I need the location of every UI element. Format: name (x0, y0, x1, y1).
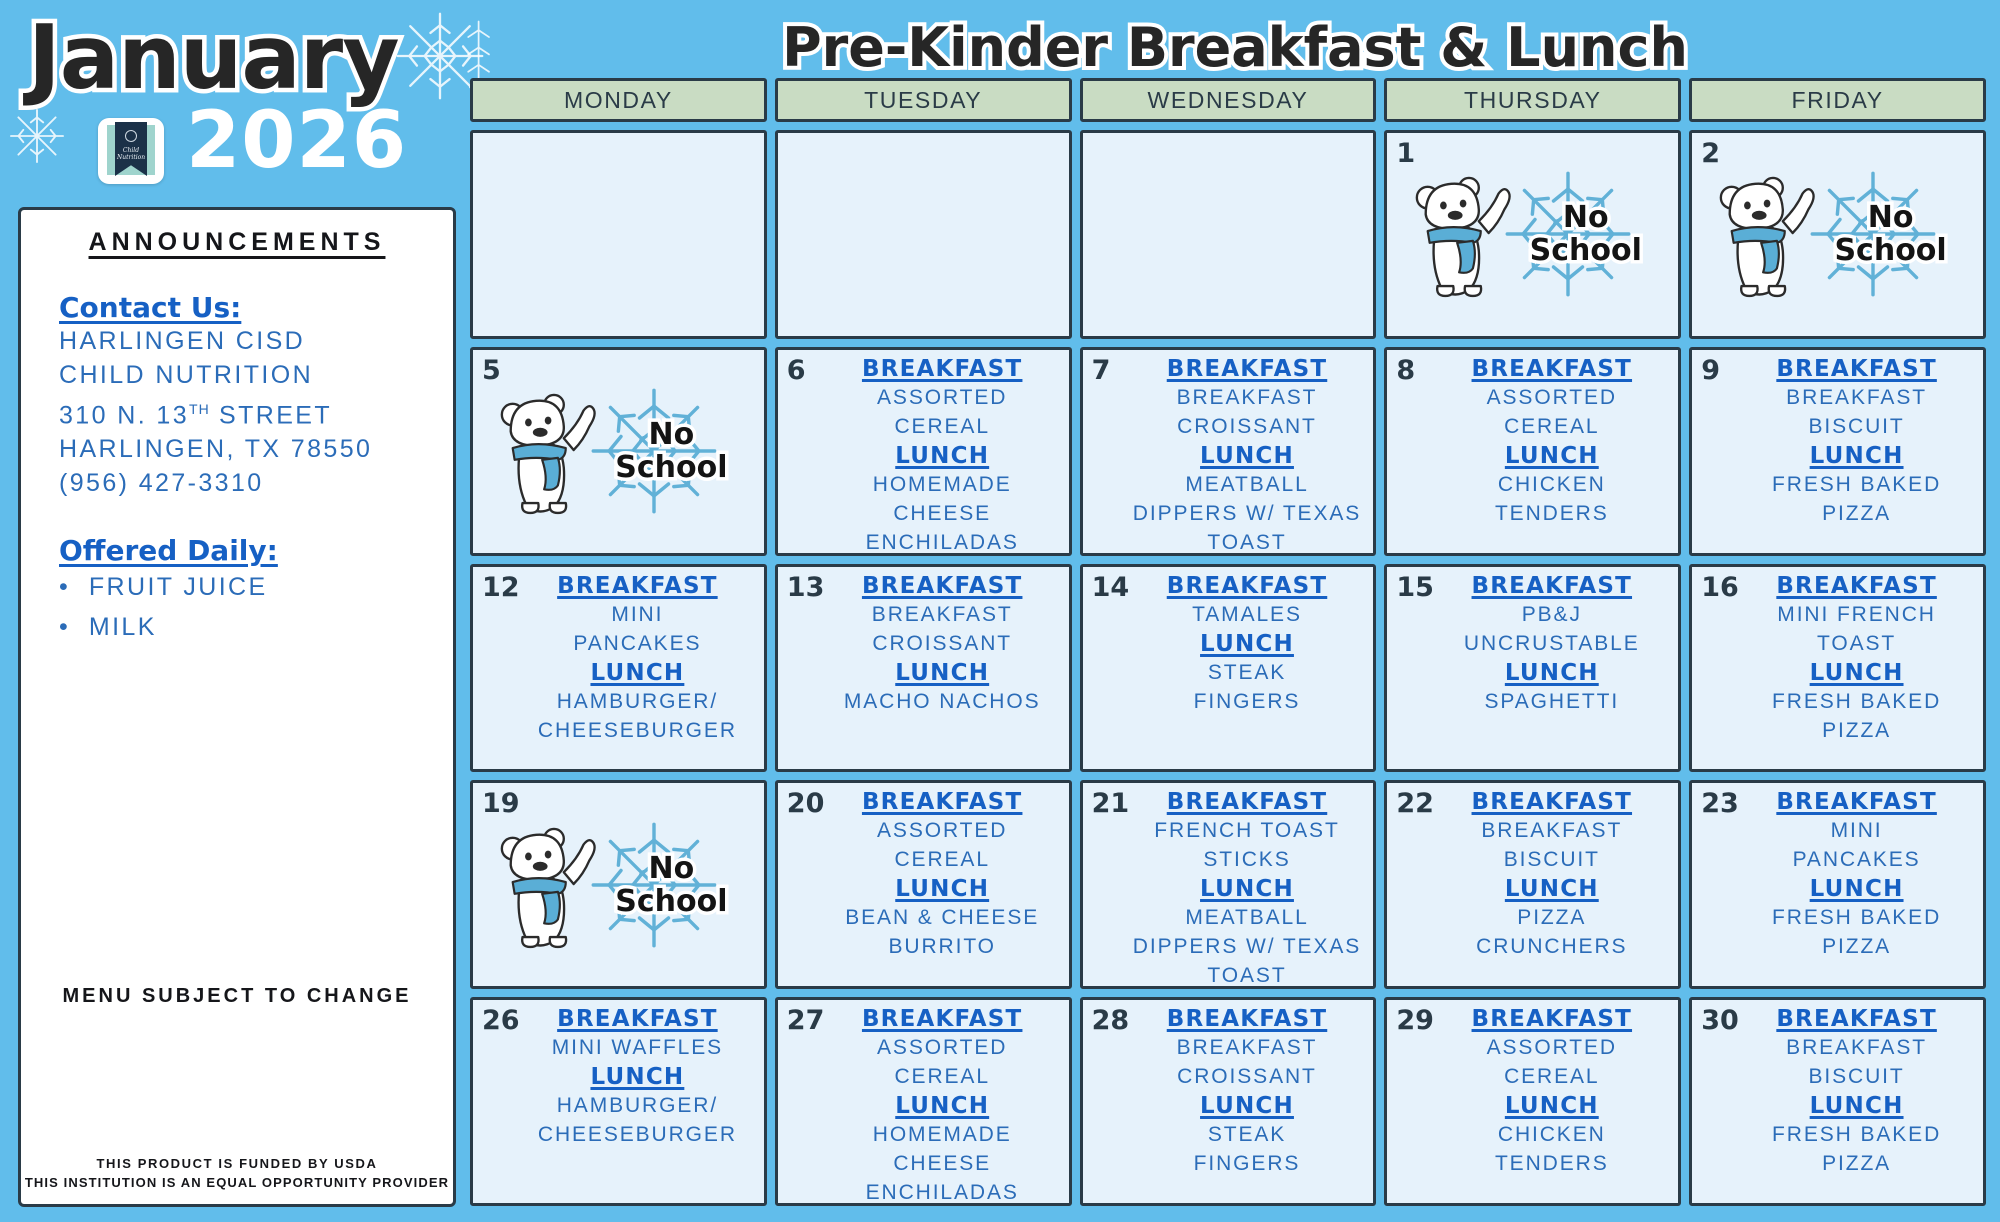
day-of-week-header-friday: FRIDAY (1689, 78, 1986, 122)
day-number: 5 (482, 355, 501, 386)
lunch-item: CHEESEBURGER (517, 716, 758, 745)
logo-script-text: ChildNutrition (117, 147, 145, 161)
lunch-item: SPAGHETTI (1431, 687, 1672, 716)
breakfast-item: FRENCH TOAST (1127, 816, 1368, 845)
lunch-heading: LUNCH (1431, 660, 1672, 687)
breakfast-item: PB&J (1431, 600, 1672, 629)
breakfast-heading: BREAKFAST (1431, 356, 1672, 383)
calendar-cell-empty (470, 130, 767, 339)
calendar-cell-day-27: 27BREAKFASTASSORTEDCEREALLUNCHHOMEMADE C… (775, 997, 1072, 1206)
breakfast-heading: BREAKFAST (517, 573, 758, 600)
calendar-cell-day-12: 12BREAKFASTMINIPANCAKESLUNCHHAMBURGER/CH… (470, 564, 767, 773)
lunch-item: PIZZA (1736, 499, 1977, 528)
breakfast-item: BISCUIT (1736, 412, 1977, 441)
lunch-item: PIZZA (1431, 903, 1672, 932)
breakfast-item: UNCRUSTABLE (1431, 629, 1672, 658)
breakfast-item: ASSORTED (1431, 1033, 1672, 1062)
day-number: 2 (1701, 138, 1720, 169)
lunch-heading: LUNCH (1127, 631, 1368, 658)
breakfast-item: TOAST (1736, 629, 1977, 658)
breakfast-item: CROISSANT (1127, 412, 1368, 441)
breakfast-item: BREAKFAST (822, 600, 1063, 629)
lunch-item: HAMBURGER/ (517, 687, 758, 716)
breakfast-item: CEREAL (822, 845, 1063, 874)
lunch-item: HAMBURGER/ (517, 1091, 758, 1120)
day-number: 12 (482, 572, 520, 603)
day-number: 23 (1701, 788, 1739, 819)
usda-funding-note: THIS PRODUCT IS FUNDED BY USDA THIS INST… (21, 1156, 453, 1190)
lunch-heading: LUNCH (1431, 876, 1672, 903)
breakfast-heading: BREAKFAST (822, 789, 1063, 816)
calendar-cell-day-1: 1 NoSchool (1384, 130, 1681, 339)
day-number: 22 (1396, 788, 1434, 819)
day-of-week-header-tuesday: TUESDAY (775, 78, 1072, 122)
breakfast-item: ASSORTED (822, 383, 1063, 412)
lunch-item: HOMEMADE CHEESE (822, 470, 1063, 528)
breakfast-heading: BREAKFAST (1127, 789, 1368, 816)
lunch-item: TOAST (1127, 528, 1368, 556)
breakfast-item: BREAKFAST (1127, 383, 1368, 412)
offered-daily-item: • MILK (59, 607, 415, 647)
breakfast-item: TAMALES (1127, 600, 1368, 629)
lunch-item: PIZZA (1736, 932, 1977, 961)
lunch-item: FRESH BAKED (1736, 470, 1977, 499)
lunch-item: BURRITO (822, 932, 1063, 961)
calendar-cell-day-7: 7BREAKFASTBREAKFASTCROISSANTLUNCHMEATBAL… (1080, 347, 1377, 556)
breakfast-heading: BREAKFAST (1736, 573, 1977, 600)
contact-phone[interactable]: (956) 427-3310 (59, 466, 415, 500)
lunch-heading: LUNCH (822, 660, 1063, 687)
contact-line: HARLINGEN, TX 78550 (59, 432, 415, 466)
calendar-cell-day-15: 15BREAKFASTPB&JUNCRUSTABLELUNCHSPAGHETTI (1384, 564, 1681, 773)
contact-line-street: 310 N. 13TH STREET (59, 392, 415, 432)
no-school-graphic: NoSchool (1692, 133, 1983, 336)
usda-line-2: THIS INSTITUTION IS AN EQUAL OPPORTUNITY… (21, 1175, 453, 1190)
breakfast-heading: BREAKFAST (1736, 789, 1977, 816)
breakfast-heading: BREAKFAST (1736, 1006, 1977, 1033)
lunch-item: DIPPERS W/ TEXAS (1127, 499, 1368, 528)
lunch-item: TOAST (1127, 961, 1368, 989)
breakfast-heading: BREAKFAST (822, 1006, 1063, 1033)
breakfast-heading: BREAKFAST (1431, 1006, 1672, 1033)
day-number: 6 (787, 355, 806, 386)
day-number: 29 (1396, 1005, 1434, 1036)
child-nutrition-logo: ChildNutrition (98, 118, 164, 184)
lunch-heading: LUNCH (1127, 876, 1368, 903)
lunch-item: PIZZA (1736, 716, 1977, 745)
contact-us-heading: Contact Us: (59, 291, 415, 324)
breakfast-item: PANCAKES (1736, 845, 1977, 874)
lunch-item: HOMEMADE CHEESE (822, 1120, 1063, 1178)
lunch-heading: LUNCH (517, 660, 758, 687)
breakfast-item: MINI (517, 600, 758, 629)
breakfast-item: BISCUIT (1736, 1062, 1977, 1091)
breakfast-item: CROISSANT (1127, 1062, 1368, 1091)
breakfast-item: CEREAL (1431, 412, 1672, 441)
breakfast-item: BISCUIT (1431, 845, 1672, 874)
breakfast-item: PANCAKES (517, 629, 758, 658)
menu-content: BREAKFASTBREAKFASTCROISSANTLUNCHMEATBALL… (1083, 350, 1374, 556)
calendar-cell-day-2: 2 NoSchool (1689, 130, 1986, 339)
day-number: 30 (1701, 1005, 1739, 1036)
lunch-item: MACHO NACHOS (822, 687, 1063, 716)
lunch-heading: LUNCH (1736, 1093, 1977, 1120)
lunch-item: CRUNCHERS (1431, 932, 1672, 961)
lunch-item: STEAK (1127, 1120, 1368, 1149)
lunch-heading: LUNCH (822, 1093, 1063, 1120)
lunch-heading: LUNCH (517, 1064, 758, 1091)
day-of-week-header-monday: MONDAY (470, 78, 767, 122)
menu-subject-to-change-note: MENU SUBJECT TO CHANGE (21, 985, 453, 1008)
day-number: 19 (482, 788, 520, 819)
calendar-cell-day-28: 28BREAKFASTBREAKFASTCROISSANTLUNCHSTEAKF… (1080, 997, 1377, 1206)
lunch-item: FINGERS (1127, 1149, 1368, 1178)
breakfast-item: MINI FRENCH (1736, 600, 1977, 629)
menu-content: BREAKFASTASSORTEDCEREALLUNCHCHICKENTENDE… (1387, 350, 1678, 532)
lunch-heading: LUNCH (1127, 1093, 1368, 1120)
day-number: 7 (1092, 355, 1111, 386)
calendar-cell-day-29: 29BREAKFASTASSORTEDCEREALLUNCHCHICKENTEN… (1384, 997, 1681, 1206)
lunch-heading: LUNCH (1431, 443, 1672, 470)
breakfast-heading: BREAKFAST (1431, 573, 1672, 600)
breakfast-heading: BREAKFAST (1431, 789, 1672, 816)
calendar-cell-day-20: 20BREAKFASTASSORTEDCEREALLUNCHBEAN & CHE… (775, 780, 1072, 989)
lunch-heading: LUNCH (1736, 876, 1977, 903)
day-number: 1 (1396, 138, 1415, 169)
no-school-label: NoSchool (1530, 201, 1642, 267)
menu-content: BREAKFASTBREAKFASTBISCUITLUNCHFRESH BAKE… (1692, 350, 1983, 532)
breakfast-item: STICKS (1127, 845, 1368, 874)
lunch-item: STEAK (1127, 658, 1368, 687)
day-number: 26 (482, 1005, 520, 1036)
breakfast-item: ASSORTED (1431, 383, 1672, 412)
no-school-graphic: NoSchool (473, 350, 764, 553)
lunch-item: FRESH BAKED (1736, 1120, 1977, 1149)
day-number: 8 (1396, 355, 1415, 386)
calendar-cell-empty (775, 130, 1072, 339)
day-number: 15 (1396, 572, 1434, 603)
calendar-cell-day-19: 19 NoSchool (470, 780, 767, 989)
calendar-title: Pre-Kinder Breakfast & Lunch (470, 16, 2000, 79)
lunch-item: BEAN & CHEESE (822, 903, 1063, 932)
left-info-panel: January ChildNutrition 2026 ANNOUNCEMENT… (0, 0, 470, 1222)
lunch-item: MEATBALL (1127, 470, 1368, 499)
breakfast-heading: BREAKFAST (517, 1006, 758, 1033)
breakfast-item: CEREAL (822, 412, 1063, 441)
calendar-cell-day-26: 26BREAKFASTMINI WAFFLESLUNCHHAMBURGER/CH… (470, 997, 767, 1206)
breakfast-item: BREAKFAST (1736, 1033, 1977, 1062)
menu-content: BREAKFASTASSORTEDCEREALLUNCHHOMEMADE CHE… (778, 350, 1069, 556)
contact-line: CHILD NUTRITION (59, 358, 415, 392)
offered-daily-item: • FRUIT JUICE (59, 567, 415, 607)
month-title: January (28, 6, 399, 109)
calendar-cell-day-21: 21BREAKFASTFRENCH TOASTSTICKSLUNCHMEATBA… (1080, 780, 1377, 989)
breakfast-item: CROISSANT (822, 629, 1063, 658)
breakfast-item: CEREAL (1431, 1062, 1672, 1091)
day-of-week-header-wednesday: WEDNESDAY (1080, 78, 1377, 122)
breakfast-heading: BREAKFAST (1127, 573, 1368, 600)
day-number: 14 (1092, 572, 1130, 603)
day-number: 13 (787, 572, 825, 603)
lunch-item: TENDERS (1431, 499, 1672, 528)
breakfast-item: CEREAL (822, 1062, 1063, 1091)
calendar-cell-day-16: 16BREAKFASTMINI FRENCHTOASTLUNCHFRESH BA… (1689, 564, 1986, 773)
lunch-heading: LUNCH (822, 443, 1063, 470)
announcements-card: ANNOUNCEMENTS Contact Us: HARLINGEN CISD… (18, 207, 456, 1207)
lunch-item: TENDERS (1431, 1149, 1672, 1178)
breakfast-heading: BREAKFAST (822, 573, 1063, 600)
calendar-cell-day-22: 22BREAKFASTBREAKFASTBISCUITLUNCHPIZZACRU… (1384, 780, 1681, 989)
breakfast-item: MINI WAFFLES (517, 1033, 758, 1062)
year-title: 2026 (186, 96, 407, 186)
day-number: 27 (787, 1005, 825, 1036)
breakfast-item: ASSORTED (822, 1033, 1063, 1062)
contact-line: HARLINGEN CISD (59, 324, 415, 358)
calendar-cell-day-23: 23BREAKFASTMINIPANCAKESLUNCHFRESH BAKEDP… (1689, 780, 1986, 989)
no-school-label: NoSchool (615, 852, 727, 918)
lunch-heading: LUNCH (1431, 1093, 1672, 1120)
day-number: 28 (1092, 1005, 1130, 1036)
lunch-heading: LUNCH (1736, 660, 1977, 687)
lunch-item: DIPPERS W/ TEXAS (1127, 932, 1368, 961)
lunch-heading: LUNCH (1127, 443, 1368, 470)
announcements-heading: ANNOUNCEMENTS (21, 228, 453, 257)
lunch-item: FINGERS (1127, 687, 1368, 716)
lunch-item: ENCHILADAS (822, 528, 1063, 556)
lunch-item: FRESH BAKED (1736, 903, 1977, 932)
no-school-label: NoSchool (1834, 201, 1946, 267)
calendar-cell-day-5: 5 NoSchool (470, 347, 767, 556)
lunch-item: CHEESEBURGER (517, 1120, 758, 1149)
breakfast-heading: BREAKFAST (1127, 1006, 1368, 1033)
calendar-cell-day-8: 8BREAKFASTASSORTEDCEREALLUNCHCHICKENTEND… (1384, 347, 1681, 556)
no-school-label: NoSchool (615, 418, 727, 484)
day-number: 9 (1701, 355, 1720, 386)
lunch-item: ENCHILADAS (822, 1178, 1063, 1206)
breakfast-heading: BREAKFAST (1736, 356, 1977, 383)
day-number: 16 (1701, 572, 1739, 603)
breakfast-heading: BREAKFAST (1127, 356, 1368, 383)
breakfast-item: MINI (1736, 816, 1977, 845)
day-number: 20 (787, 788, 825, 819)
breakfast-item: ASSORTED (822, 816, 1063, 845)
lunch-item: CHICKEN (1431, 1120, 1672, 1149)
day-of-week-header-thursday: THURSDAY (1384, 78, 1681, 122)
lunch-heading: LUNCH (1736, 443, 1977, 470)
no-school-graphic: NoSchool (1387, 133, 1678, 336)
calendar-cell-day-6: 6BREAKFASTASSORTEDCEREALLUNCHHOMEMADE CH… (775, 347, 1072, 556)
day-number: 21 (1092, 788, 1130, 819)
lunch-item: FRESH BAKED (1736, 687, 1977, 716)
usda-line-1: THIS PRODUCT IS FUNDED BY USDA (21, 1156, 453, 1171)
breakfast-item: BREAKFAST (1736, 383, 1977, 412)
lunch-item: CHICKEN (1431, 470, 1672, 499)
calendar-cell-day-9: 9BREAKFASTBREAKFASTBISCUITLUNCHFRESH BAK… (1689, 347, 1986, 556)
calendar-cell-day-30: 30BREAKFASTBREAKFASTBISCUITLUNCHFRESH BA… (1689, 997, 1986, 1206)
breakfast-item: BREAKFAST (1127, 1033, 1368, 1062)
offered-daily-heading: Offered Daily: (59, 534, 415, 567)
menu-calendar-grid: MONDAYTUESDAYWEDNESDAYTHURSDAYFRIDAY1 (470, 78, 1986, 1206)
calendar-cell-day-13: 13BREAKFASTBREAKFASTCROISSANTLUNCHMACHO … (775, 564, 1072, 773)
lunch-heading: LUNCH (822, 876, 1063, 903)
breakfast-heading: BREAKFAST (822, 356, 1063, 383)
lunch-item: PIZZA (1736, 1149, 1977, 1178)
calendar-cell-empty (1080, 130, 1377, 339)
snowflake-decoration-small (6, 105, 68, 167)
calendar-cell-day-14: 14BREAKFASTTAMALESLUNCHSTEAKFINGERS (1080, 564, 1377, 773)
lunch-item: MEATBALL (1127, 903, 1368, 932)
breakfast-item: BREAKFAST (1431, 816, 1672, 845)
